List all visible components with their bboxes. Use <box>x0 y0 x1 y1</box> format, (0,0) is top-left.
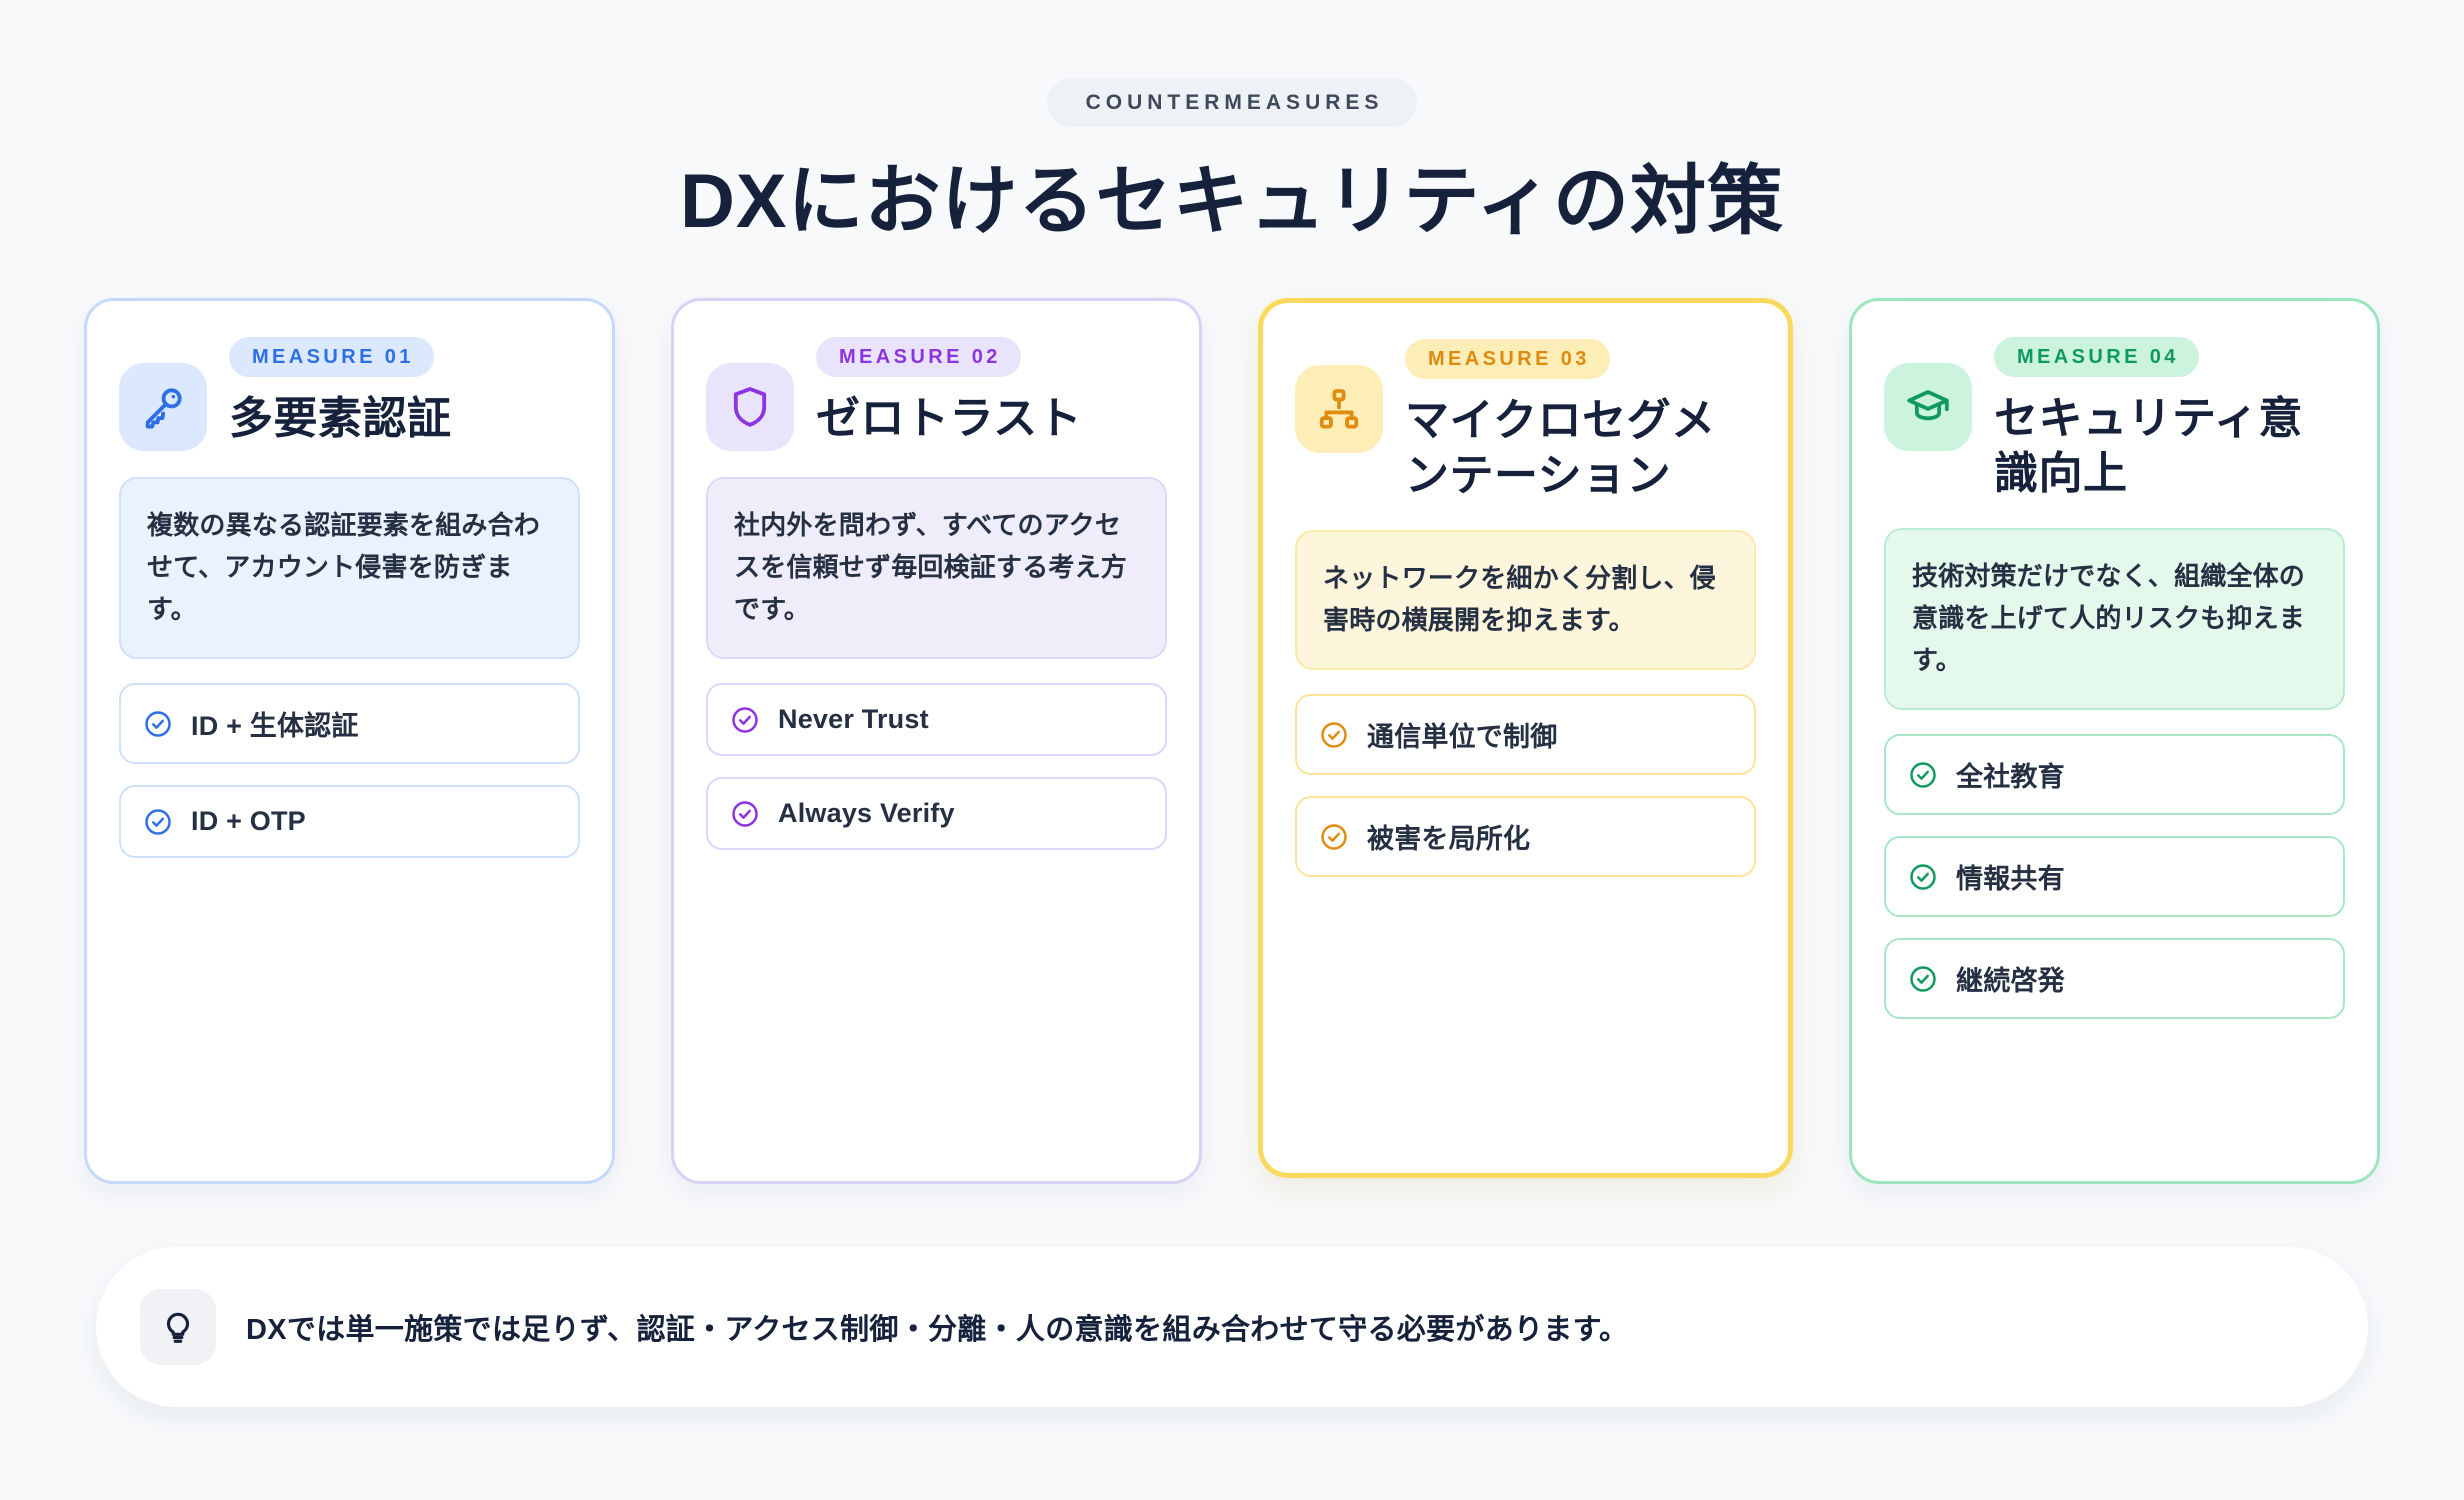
measure-badge: MEASURE 04 <box>1994 337 2199 377</box>
measure-badge: MEASURE 03 <box>1405 339 1610 379</box>
card-title: セキュリティ意識向上 <box>1994 391 2345 502</box>
summary-text: DXでは単一施策では足りず、認証・アクセス制御・分離・人の意識を組み合わせて守る… <box>246 1306 1628 1348</box>
list-item-label: ID + 生体認証 <box>191 704 359 743</box>
card-title: マイクロセグメンテーション <box>1405 393 1756 504</box>
list-item[interactable]: 継続啓発 <box>1884 938 2345 1019</box>
card-point-list: ID + 生体認証 ID + OTP <box>119 683 580 858</box>
list-item-label: 全社教育 <box>1956 755 2065 794</box>
card-header: MEASURE 03 マイクロセグメンテーション <box>1295 337 1756 504</box>
list-item[interactable]: 情報共有 <box>1884 836 2345 917</box>
measure-badge: MEASURE 01 <box>229 337 434 377</box>
measure-card-03[interactable]: MEASURE 03 マイクロセグメンテーション ネットワークを細かく分割し、侵… <box>1258 298 1793 1178</box>
measure-card-01[interactable]: MEASURE 01 多要素認証 複数の異なる認証要素を組み合わせて、アカウント… <box>84 298 615 1184</box>
card-point-list: 全社教育 情報共有 継続啓発 <box>1884 734 2345 1019</box>
list-item-label: 被害を局所化 <box>1367 817 1530 856</box>
card-description: 社内外を問わず、すべてのアクセスを信頼せず毎回検証する考え方です。 <box>706 477 1167 659</box>
check-circle-icon <box>1319 822 1349 852</box>
network-hierarchy-icon <box>1295 365 1383 453</box>
summary-banner: DXでは単一施策では足りず、認証・アクセス制御・分離・人の意識を組み合わせて守る… <box>96 1247 2368 1407</box>
check-circle-icon <box>143 807 173 837</box>
card-head-text: MEASURE 03 マイクロセグメンテーション <box>1405 337 1756 504</box>
list-item[interactable]: ID + OTP <box>119 785 580 858</box>
card-header: MEASURE 04 セキュリティ意識向上 <box>1884 335 2345 502</box>
card-head-text: MEASURE 02 ゼロトラスト <box>816 335 1167 446</box>
list-item[interactable]: 通信単位で制御 <box>1295 694 1756 775</box>
card-description: 複数の異なる認証要素を組み合わせて、アカウント侵害を防ぎます。 <box>119 477 580 659</box>
card-description: 技術対策だけでなく、組織全体の意識を上げて人的リスクも抑えます。 <box>1884 528 2345 710</box>
measure-card-04[interactable]: MEASURE 04 セキュリティ意識向上 技術対策だけでなく、組織全体の意識を… <box>1849 298 2380 1184</box>
list-item[interactable]: 全社教育 <box>1884 734 2345 815</box>
list-item[interactable]: Never Trust <box>706 683 1167 756</box>
card-point-list: 通信単位で制御 被害を局所化 <box>1295 694 1756 877</box>
measure-card-02[interactable]: MEASURE 02 ゼロトラスト 社内外を問わず、すべてのアクセスを信頼せず毎… <box>671 298 1202 1184</box>
shield-icon <box>706 363 794 451</box>
page-header: COUNTERMEASURES DXにおけるセキュリティの対策 <box>88 0 2376 243</box>
check-circle-icon <box>1908 862 1938 892</box>
check-circle-icon <box>1319 720 1349 750</box>
eyebrow-badge: COUNTERMEASURES <box>1047 78 1418 127</box>
list-item-label: Never Trust <box>778 704 929 735</box>
list-item[interactable]: ID + 生体認証 <box>119 683 580 764</box>
infographic-page: COUNTERMEASURES DXにおけるセキュリティの対策 MEASURE … <box>0 0 2464 1500</box>
card-header: MEASURE 01 多要素認証 <box>119 335 580 451</box>
check-circle-icon <box>730 705 760 735</box>
card-header: MEASURE 02 ゼロトラスト <box>706 335 1167 451</box>
measure-card-row: MEASURE 01 多要素認証 複数の異なる認証要素を組み合わせて、アカウント… <box>84 298 2380 1184</box>
list-item-label: 情報共有 <box>1956 857 2065 896</box>
check-circle-icon <box>730 799 760 829</box>
measure-badge: MEASURE 02 <box>816 337 1021 377</box>
page-title: DXにおけるセキュリティの対策 <box>88 161 2376 243</box>
list-item-label: Always Verify <box>778 798 955 829</box>
card-description: ネットワークを細かく分割し、侵害時の横展開を抑えます。 <box>1295 530 1756 670</box>
list-item-label: 継続啓発 <box>1956 959 2065 998</box>
graduation-cap-icon <box>1884 363 1972 451</box>
list-item[interactable]: 被害を局所化 <box>1295 796 1756 877</box>
card-point-list: Never Trust Always Verify <box>706 683 1167 850</box>
card-title: 多要素認証 <box>229 391 580 446</box>
check-circle-icon <box>1908 760 1938 790</box>
key-icon <box>119 363 207 451</box>
check-circle-icon <box>143 709 173 739</box>
check-circle-icon <box>1908 964 1938 994</box>
lightbulb-icon <box>140 1289 216 1365</box>
list-item-label: 通信単位で制御 <box>1367 715 1557 754</box>
list-item-label: ID + OTP <box>191 806 306 837</box>
card-title: ゼロトラスト <box>816 391 1167 446</box>
card-head-text: MEASURE 01 多要素認証 <box>229 335 580 446</box>
list-item[interactable]: Always Verify <box>706 777 1167 850</box>
card-head-text: MEASURE 04 セキュリティ意識向上 <box>1994 335 2345 502</box>
